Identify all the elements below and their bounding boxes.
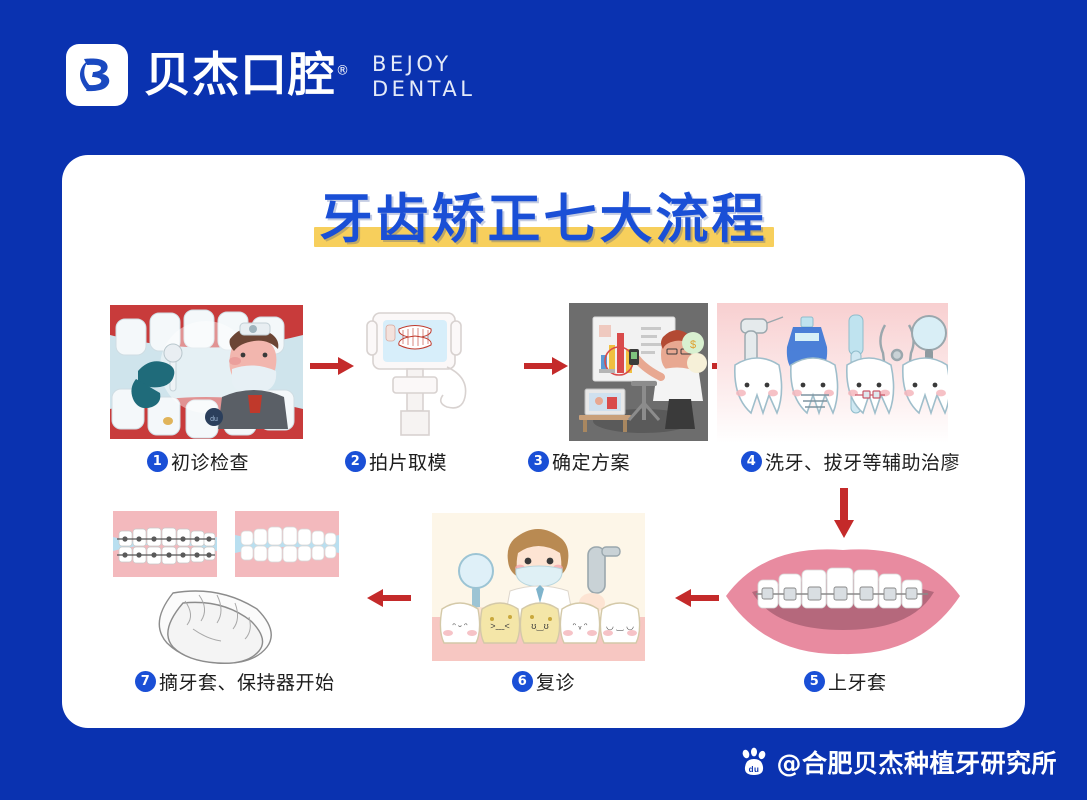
svg-text:>﹏<: >﹏< bbox=[490, 621, 510, 631]
arrow-step6-to-step7 bbox=[367, 587, 411, 609]
svg-text:du: du bbox=[210, 416, 218, 423]
brand-name-cn: 贝杰口腔® bbox=[144, 52, 350, 99]
svg-text:du: du bbox=[749, 765, 760, 774]
svg-text:ᵔ ᵥ ᵔ: ᵔ ᵥ ᵔ bbox=[573, 621, 588, 631]
flow-card: 牙齿矫正七大流程 bbox=[62, 155, 1025, 728]
page-title: 牙齿矫正七大流程 bbox=[62, 190, 1025, 251]
brand-name-en-line2: DENTAL bbox=[372, 77, 475, 102]
step-3-image: $ bbox=[569, 303, 708, 441]
step-7-text: 摘牙套、保持器开始 bbox=[159, 668, 335, 695]
step-7-label: 7 摘牙套、保持器开始 bbox=[135, 668, 335, 695]
step-6-label: 6 复诊 bbox=[512, 668, 575, 695]
step-5-text: 上牙套 bbox=[828, 668, 887, 695]
bejoy-b-monogram-icon bbox=[66, 44, 128, 106]
step-2-badge: 2 bbox=[345, 451, 366, 472]
step-5-label: 5 上牙套 bbox=[804, 668, 887, 695]
step-3-text: 确定方案 bbox=[552, 448, 630, 475]
step-5-image bbox=[722, 540, 964, 660]
footer-handle: @合肥贝杰种植牙研究所 bbox=[776, 744, 1057, 780]
step-1-badge: 1 bbox=[147, 451, 168, 472]
step-4-text: 洗牙、拔牙等辅助治廖 bbox=[765, 448, 960, 475]
step-4-label: 4 洗牙、拔牙等辅助治廖 bbox=[741, 448, 960, 475]
step-3-label: 3 确定方案 bbox=[528, 448, 630, 475]
arrow-step1-to-step2 bbox=[310, 355, 354, 377]
arrow-step4-to-step5 bbox=[832, 488, 856, 538]
svg-text:ᵔ ᵕ ᵔ: ᵔ ᵕ ᵔ bbox=[452, 621, 468, 631]
svg-text:ʊ‿ʊ: ʊ‿ʊ bbox=[531, 621, 548, 631]
arrow-step5-to-step6 bbox=[675, 587, 719, 609]
step-6-text: 复诊 bbox=[536, 668, 575, 695]
step-6-badge: 6 bbox=[512, 671, 533, 692]
step-7-image bbox=[107, 505, 347, 665]
step-4-image bbox=[717, 303, 948, 443]
brand-name-en-line1: BEJOY bbox=[372, 52, 475, 77]
title-text: 牙齿矫正七大流程 bbox=[320, 189, 768, 250]
brand-header: 贝杰口腔® BEJOY DENTAL bbox=[66, 44, 475, 106]
baidu-paw-icon: du bbox=[739, 747, 769, 777]
svg-text:◡ ‿ ◡: ◡ ‿ ◡ bbox=[606, 621, 634, 631]
brand-name-en: BEJOY DENTAL bbox=[372, 48, 475, 102]
step-1-label: 1 初诊检查 bbox=[147, 448, 249, 475]
arrow-step2-to-step3 bbox=[524, 355, 568, 377]
step-3-badge: 3 bbox=[528, 451, 549, 472]
step-1-image: du bbox=[110, 305, 303, 439]
step-6-image: ᵔ ᵕ ᵔ >﹏< ʊ‿ʊ ᵔ ᵥ ᵔ ◡ ‿ ◡ bbox=[432, 513, 645, 661]
step-2-image bbox=[355, 303, 520, 441]
step-5-badge: 5 bbox=[804, 671, 825, 692]
step-1-text: 初诊检查 bbox=[171, 448, 249, 475]
svg-text:$: $ bbox=[690, 339, 696, 351]
step-2-text: 拍片取模 bbox=[369, 448, 447, 475]
step-7-badge: 7 bbox=[135, 671, 156, 692]
registered-mark: ® bbox=[336, 63, 350, 78]
step-4-badge: 4 bbox=[741, 451, 762, 472]
footer-watermark: du @合肥贝杰种植牙研究所 bbox=[739, 744, 1057, 780]
step-2-label: 2 拍片取模 bbox=[345, 448, 447, 475]
